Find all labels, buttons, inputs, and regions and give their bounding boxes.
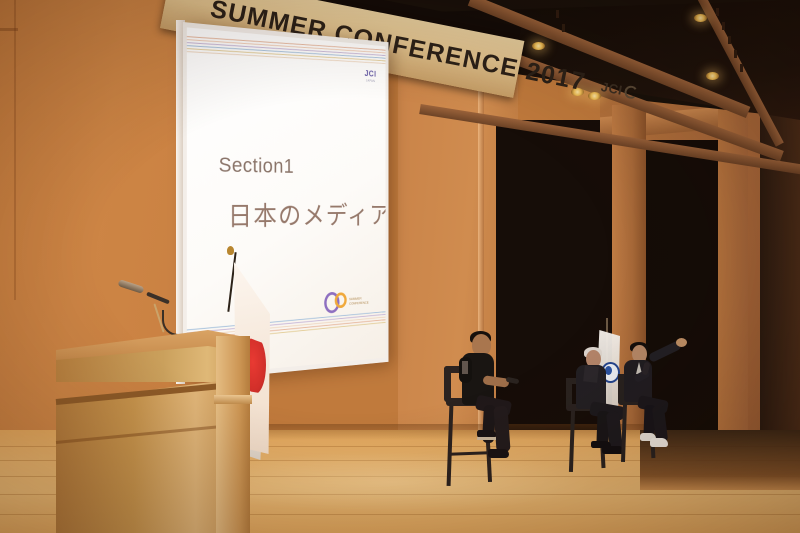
slide-jci-logo: JCI JAPAN	[365, 70, 377, 84]
podium-side-column	[216, 336, 250, 533]
stool-backrest	[444, 366, 451, 402]
wall-trim	[0, 28, 18, 31]
stage-right-void-far	[640, 140, 720, 440]
slide-heading: 日本のメディアと政治	[228, 195, 386, 233]
ceiling-louver	[722, 22, 725, 30]
ceiling-louver	[734, 50, 737, 58]
slide-jci-sub: JAPAN	[365, 79, 377, 83]
slide-footer-logo: SUMMER CONFERENCE	[324, 290, 369, 314]
slide-section-label: Section1	[219, 154, 295, 179]
ceiling-spotlight-icon	[706, 72, 719, 80]
jci-swirl-icon	[623, 84, 638, 99]
slide-jci-main: JCI	[365, 70, 377, 79]
footer-logo-line2: CONFERENCE	[349, 300, 369, 305]
panelist-sneaker	[650, 438, 668, 447]
wall-seam	[14, 0, 16, 300]
ceiling-louver	[740, 64, 743, 72]
panelist-shoe-sole	[477, 437, 496, 440]
ceiling-spotlight-icon	[532, 42, 545, 50]
ceiling-louver	[716, 8, 719, 16]
ceiling-spotlight-icon	[694, 14, 707, 22]
panelist-hand	[676, 338, 687, 347]
ceiling-louver	[728, 36, 731, 44]
conference-stage-photo: SUMMER CONFERENCE 2017 JCI JCI JAPAN Se	[0, 0, 800, 533]
flag-finial-icon	[227, 246, 234, 255]
projection-screen: JCI JAPAN Section1 日本のメディアと政治 SUMMER CON…	[183, 22, 388, 382]
panelist-sleeve-print	[462, 361, 468, 374]
slide-footer-logo-text: SUMMER CONFERENCE	[349, 296, 369, 305]
ceiling-louver	[556, 10, 559, 18]
jci-flag-emblem-dot	[605, 366, 612, 375]
ceiling-louver	[562, 24, 565, 32]
panelist-lapel	[583, 365, 599, 382]
podium-side-cap	[214, 395, 252, 404]
pillar-right	[760, 80, 800, 440]
panelist-shoe	[488, 449, 509, 458]
slide-top-stripes	[187, 35, 386, 67]
projected-slide: JCI JAPAN Section1 日本のメディアと政治 SUMMER CON…	[187, 27, 386, 376]
summer-conference-ring-orange-icon	[335, 292, 347, 308]
